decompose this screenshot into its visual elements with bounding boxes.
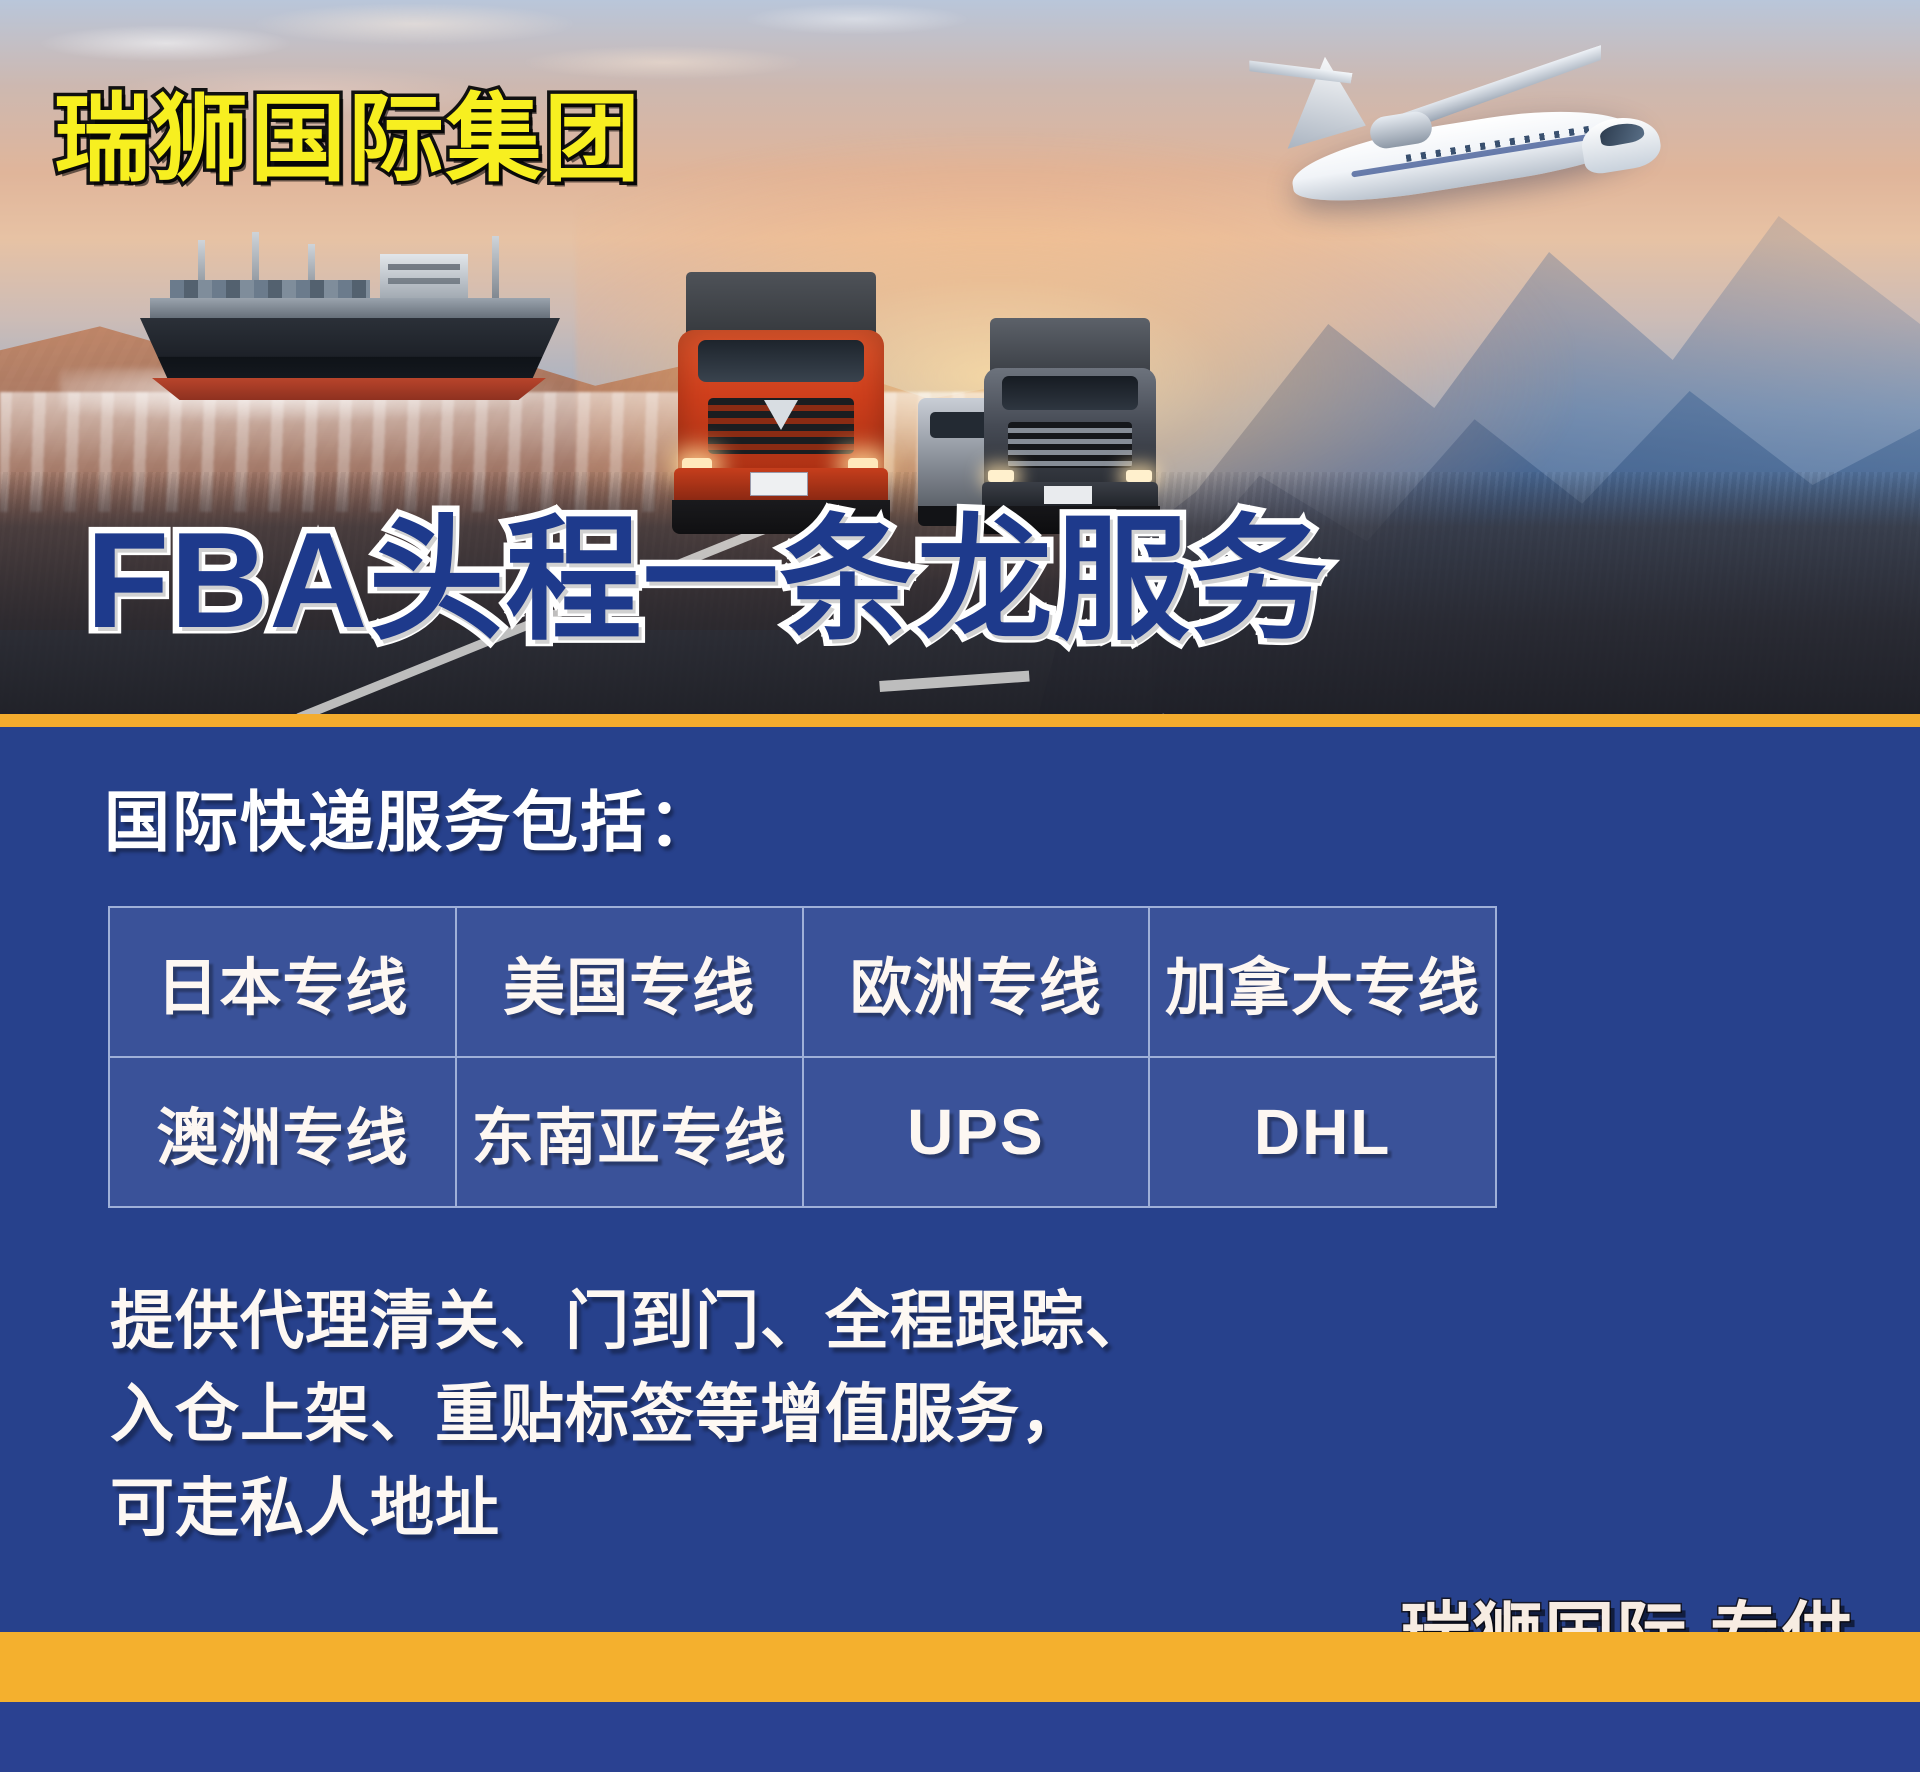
table-row: 日本专线 美国专线 欧洲专线 加拿大专线: [109, 907, 1496, 1057]
section-title: 国际快递服务包括：: [104, 789, 716, 855]
table-cell-europe[interactable]: 欧洲专线: [803, 907, 1150, 1057]
bottom-gold-bar: [0, 1632, 1920, 1702]
service-table-body: 日本专线 美国专线 欧洲专线 加拿大专线 澳洲专线 东南亚专线 UPS DHL: [109, 907, 1496, 1207]
road-marking: [879, 671, 1029, 692]
dark-truck-headlight: [1126, 470, 1152, 482]
hero-banner: 瑞狮国际集团 FBA头程一条龙服务: [0, 0, 1920, 722]
info-panel: 国际快递服务包括： 日本专线 美国专线 欧洲专线 加拿大专线 澳洲专线 东南亚专…: [0, 727, 1920, 1702]
company-logo-text: 瑞狮国际集团: [54, 92, 642, 188]
ship-crane: [492, 236, 499, 302]
red-truck-icon: [672, 272, 890, 540]
hero-headline: FBA头程一条龙服务: [86, 512, 1328, 648]
description-line-3: 可走私人地址: [110, 1462, 1150, 1555]
description-line-1: 提供代理清关、门到门、全程跟踪、: [110, 1275, 1150, 1368]
table-cell-australia[interactable]: 澳洲专线: [109, 1057, 456, 1207]
dark-truck-license-plate: [1044, 486, 1092, 504]
dark-truck-windshield: [1002, 376, 1138, 410]
ship-waterline: [152, 378, 546, 400]
dark-truck-grille: [1008, 422, 1132, 468]
table-cell-dhl[interactable]: DHL: [1149, 1057, 1496, 1207]
ship-containers: [170, 280, 370, 300]
table-cell-southeast-asia[interactable]: 东南亚专线: [456, 1057, 803, 1207]
table-cell-canada[interactable]: 加拿大专线: [1149, 907, 1496, 1057]
airplane-icon: [1230, 40, 1660, 240]
value-added-services-description: 提供代理清关、门到门、全程跟踪、 入仓上架、重贴标签等增值服务， 可走私人地址: [110, 1275, 1150, 1555]
dark-truck-headlight: [988, 470, 1014, 482]
ship-superstructure: [380, 254, 468, 304]
table-cell-ups[interactable]: UPS: [803, 1057, 1150, 1207]
table-row: 澳洲专线 东南亚专线 UPS DHL: [109, 1057, 1496, 1207]
red-truck-windshield: [698, 340, 864, 382]
table-cell-usa[interactable]: 美国专线: [456, 907, 803, 1057]
poster-root: 瑞狮国际集团 FBA头程一条龙服务 国际快递服务包括： 日本专线 美国专线 欧洲…: [0, 0, 1920, 1772]
description-line-2: 入仓上架、重贴标签等增值服务，: [110, 1368, 1150, 1461]
service-lines-table: 日本专线 美国专线 欧洲专线 加拿大专线 澳洲专线 东南亚专线 UPS DHL: [108, 906, 1497, 1208]
red-truck-license-plate: [750, 472, 808, 496]
table-cell-japan[interactable]: 日本专线: [109, 907, 456, 1057]
gold-accent-divider: [0, 714, 1920, 727]
cargo-ship-icon: [140, 232, 570, 407]
